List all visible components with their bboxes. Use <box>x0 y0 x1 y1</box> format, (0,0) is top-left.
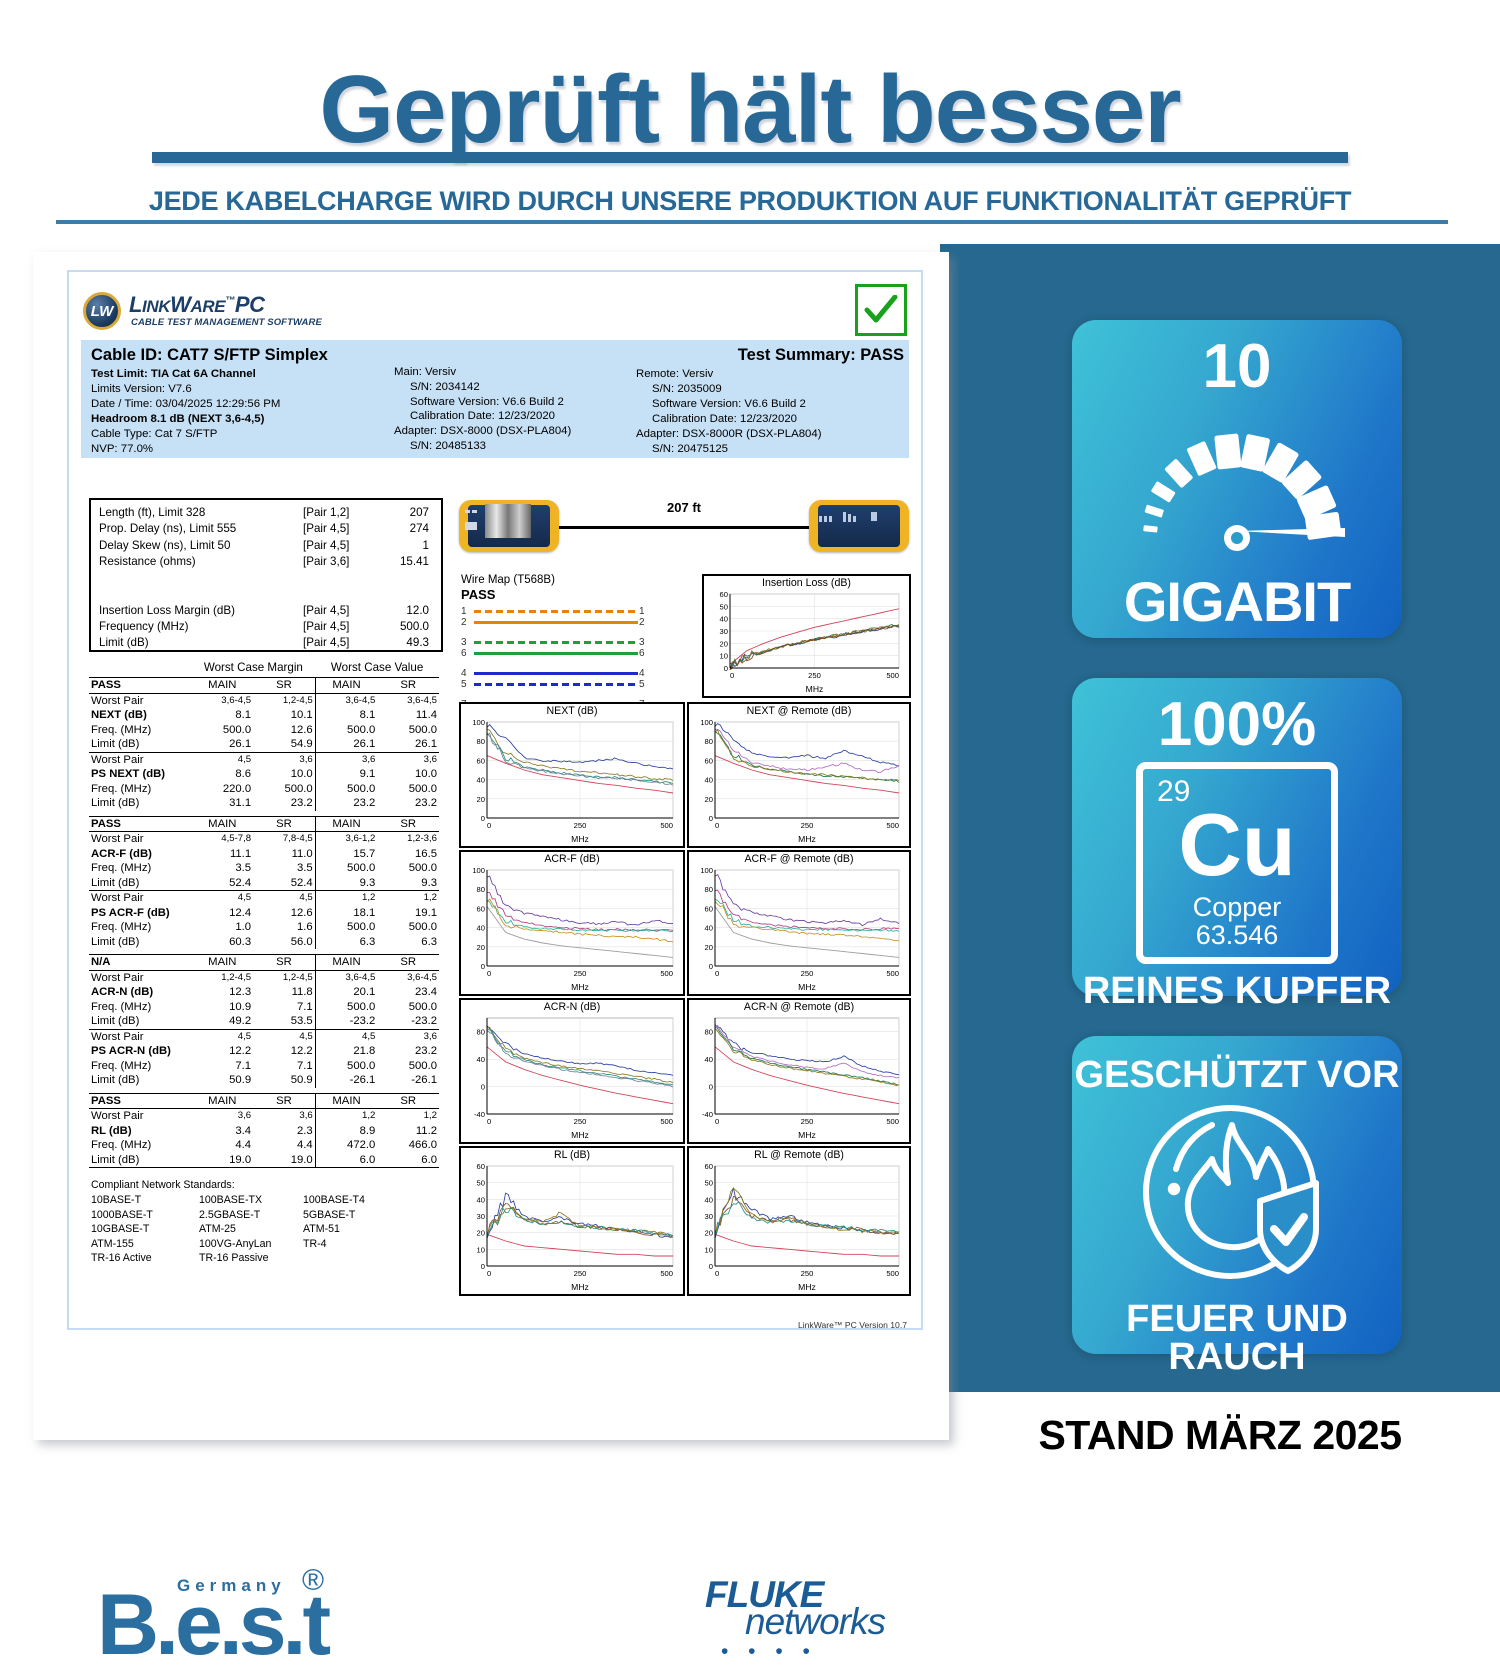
charts-grid: Insertion Loss (dB)01020304050600250500M… <box>459 574 911 1324</box>
best-country-text: Germany <box>177 1576 286 1596</box>
svg-text:MHz: MHz <box>798 1130 816 1140</box>
measurement-pair: [Pair 4,5] <box>303 636 349 649</box>
svg-text:50: 50 <box>477 1178 485 1187</box>
measurement-pair: [Pair 4,5] <box>303 620 349 633</box>
cable-line <box>559 526 809 529</box>
table-row: ACR-N (dB)12.311.820.123.4 <box>89 985 439 1000</box>
svg-text:MHz: MHz <box>798 1282 816 1292</box>
table-row: Worst Pair4,53,63,63,6 <box>89 752 439 767</box>
chart-title: NEXT @ Remote (dB) <box>689 704 909 718</box>
linkware-version-note: LinkWare™ PC Version 10.7 <box>798 1320 907 1330</box>
svg-text:250: 250 <box>801 1269 814 1278</box>
measurement-pair: [Pair 4,5] <box>303 522 349 535</box>
badge-copper: 100% 29 Cu Copper 63.546 REINES KUPFER <box>1072 678 1402 996</box>
main-title: Main: Versiv <box>394 365 638 380</box>
date-stamp: STAND MÄRZ 2025 <box>940 1412 1500 1459</box>
report-header-band: Cable ID: CAT7 S/FTP Simplex Test Limit:… <box>81 340 909 458</box>
svg-text:40: 40 <box>705 1055 713 1064</box>
cable-tester-main-icon <box>459 500 559 552</box>
table-row: Worst Pair4,54,51,21,2 <box>89 891 439 906</box>
svg-text:50: 50 <box>705 1178 713 1187</box>
cable-type: Cable Type: Cat 7 S/FTP <box>91 427 391 442</box>
badge-copper-label: REINES KUPFER <box>1072 972 1402 1010</box>
header-remote-column: Test Summary: PASS Remote: Versiv S/N: 2… <box>636 345 904 456</box>
linkware-logo: LW LINKWARE™PC CABLE TEST MANAGEMENT SOF… <box>83 288 383 334</box>
svg-text:10: 10 <box>705 1245 713 1254</box>
main-software-version: Software Version: V6.6 Build 2 <box>394 395 638 410</box>
svg-text:MHz: MHz <box>571 1130 589 1140</box>
measurement-row: Delay Skew (ns), Limit 50 [Pair 4,5] 1 <box>91 539 441 555</box>
section-header-row: PASSMAINSRMAINSR <box>89 1093 439 1109</box>
standard-row: TR-16 ActiveTR-16 Passive <box>91 1251 471 1266</box>
svg-text:MHz: MHz <box>571 834 589 844</box>
svg-text:250: 250 <box>574 969 587 978</box>
chart-title: ACR-N (dB) <box>461 1000 683 1014</box>
svg-text:0: 0 <box>709 1082 713 1091</box>
badge-fire-top-label: GESCHÜTZT VOR <box>1072 1036 1402 1094</box>
measurement-label: Insertion Loss Margin (dB) <box>99 604 235 617</box>
svg-text:80: 80 <box>477 885 485 894</box>
headline-section: Geprüft hält besser JEDE KABELCHARGE WIR… <box>0 0 1500 232</box>
chart-plot: 0204060801000250500MHz <box>461 866 683 992</box>
standard-row: ATM-155100VG-AnyLanTR-4 <box>91 1237 471 1252</box>
measurement-label: Resistance (ohms) <box>99 555 196 568</box>
standard-row: 1000BASE-T2.5GBASE-T5GBASE-T <box>91 1208 471 1223</box>
table-row: Freq. (MHz)500.012.6500.0500.0 <box>89 723 439 738</box>
cable-tester-remote-icon <box>809 500 909 552</box>
svg-text:20: 20 <box>477 1228 485 1237</box>
remote-calibration-date: Calibration Date: 12/23/2020 <box>636 412 904 427</box>
svg-text:30: 30 <box>720 627 728 636</box>
measurement-row: Frequency (MHz) [Pair 4,5] 500.0 <box>91 620 441 636</box>
table-row: Worst Pair3,63,61,21,2 <box>89 1109 439 1124</box>
test-summary: Test Summary: PASS <box>636 345 904 366</box>
chart-plot: 01020304050600250500MHz <box>689 1162 909 1292</box>
svg-text:500: 500 <box>886 1269 899 1278</box>
remote-adapter: Adapter: DSX-8000R (DSX-PLA804) <box>636 427 904 442</box>
standard-row: 10BASE-T100BASE-TX100BASE-T4 <box>91 1193 471 1208</box>
badge-gigabit-number: 10 <box>1072 320 1402 398</box>
best-germany-logo: B.e.s.t Germany ® <box>97 1564 357 1674</box>
table-row: Freq. (MHz)7.17.1500.0500.0 <box>89 1059 439 1074</box>
header-main-column: Main: Versiv S/N: 2034142 Software Versi… <box>394 345 638 454</box>
measurement-value: 207 <box>363 506 429 519</box>
chart-title: RL (dB) <box>461 1148 683 1162</box>
svg-text:30: 30 <box>477 1212 485 1221</box>
table-row: NEXT (dB)8.110.18.111.4 <box>89 708 439 723</box>
green-check-icon <box>855 284 907 336</box>
cable-id: Cable ID: CAT7 S/FTP Simplex <box>91 345 391 366</box>
badge-copper-percent: 100% <box>1072 678 1402 756</box>
section-header-row: PASSMAINSRMAINSR <box>89 678 439 694</box>
chart-rl-remote-db: RL @ Remote (dB)01020304050600250500MHz <box>687 1146 911 1296</box>
svg-text:40: 40 <box>477 1195 485 1204</box>
subtitle-underline <box>56 220 1448 224</box>
measurement-label: Frequency (MHz) <box>99 620 189 633</box>
speedometer-gauge-icon <box>1072 398 1402 574</box>
chart-title: ACR-F (dB) <box>461 852 683 866</box>
svg-text:0: 0 <box>481 1262 485 1271</box>
svg-text:40: 40 <box>705 775 713 784</box>
table-row: PS NEXT (dB)8.610.09.110.0 <box>89 767 439 782</box>
svg-text:250: 250 <box>801 1117 814 1126</box>
main-sn: S/N: 2034142 <box>394 380 638 395</box>
svg-text:60: 60 <box>477 904 485 913</box>
svg-text:60: 60 <box>705 904 713 913</box>
svg-text:60: 60 <box>477 1162 485 1171</box>
element-symbol: Cu <box>1143 801 1331 889</box>
svg-text:40: 40 <box>477 775 485 784</box>
svg-text:60: 60 <box>477 756 485 765</box>
svg-text:250: 250 <box>574 821 587 830</box>
fluke-networks-logo: FLUKE networks • • • • <box>705 1574 925 1664</box>
remote-sn: S/N: 2035009 <box>636 382 904 397</box>
svg-text:250: 250 <box>801 821 814 830</box>
measurement-label: Limit (dB) <box>99 636 149 649</box>
svg-text:500: 500 <box>886 969 899 978</box>
table-row: Limit (dB)26.154.926.126.1 <box>89 737 439 752</box>
compliant-standards: Compliant Network Standards: 10BASE-T100… <box>91 1178 471 1266</box>
fluke-dots-icon: • • • • <box>721 1640 817 1664</box>
svg-text:80: 80 <box>705 1027 713 1036</box>
svg-text:60: 60 <box>705 756 713 765</box>
chart-plot: 0204060801000250500MHz <box>461 718 683 844</box>
svg-text:40: 40 <box>477 1055 485 1064</box>
svg-text:0: 0 <box>715 969 719 978</box>
measurement-value: 274 <box>363 522 429 535</box>
badge-fire-bottom-label: FEUER UND RAUCH <box>1072 1300 1402 1376</box>
svg-text:10: 10 <box>477 1245 485 1254</box>
chart-acr-n-db: ACR-N (dB)-40040800250500MHz <box>459 998 685 1144</box>
table-row: Limit (dB)50.950.9-26.1-26.1 <box>89 1073 439 1088</box>
chart-insertion-loss-db: Insertion Loss (dB)01020304050600250500M… <box>702 574 911 698</box>
chart-acr-n-remote-db: ACR-N @ Remote (dB)-40040800250500MHz <box>687 998 911 1144</box>
table-row: Worst Pair3,6-4,51,2-4,53,6-4,53,6-4,5 <box>89 693 439 708</box>
svg-text:0: 0 <box>481 1082 485 1091</box>
registered-trademark-icon: ® <box>302 1564 324 1598</box>
svg-text:20: 20 <box>720 639 728 648</box>
svg-text:20: 20 <box>705 794 713 803</box>
measurement-row: Length (ft), Limit 328 [Pair 1,2] 207 <box>91 506 441 522</box>
table-row: Freq. (MHz)3.53.5500.0500.0 <box>89 861 439 876</box>
svg-text:60: 60 <box>720 590 728 599</box>
svg-text:250: 250 <box>574 1117 587 1126</box>
results-table: Worst Case MarginWorst Case ValuePASSMAI… <box>89 660 439 1168</box>
chart-acr-f-remote-db: ACR-F @ Remote (dB)0204060801000250500MH… <box>687 850 911 996</box>
badge-gigabit-label: GIGABIT <box>1072 574 1402 630</box>
remote-title: Remote: Versiv <box>636 367 904 382</box>
table-row: Freq. (MHz)1.01.6500.0500.0 <box>89 920 439 935</box>
measurement-value: 500.0 <box>363 620 429 633</box>
svg-text:0: 0 <box>487 821 491 830</box>
table-row: Freq. (MHz)10.97.1500.0500.0 <box>89 1000 439 1015</box>
measurement-label: Delay Skew (ns), Limit 50 <box>99 539 230 552</box>
nvp: NVP: 77.0% <box>91 442 391 457</box>
section-header-row: PASSMAINSRMAINSR <box>89 816 439 832</box>
svg-text:250: 250 <box>574 1269 587 1278</box>
table-row: Worst Pair1,2-4,51,2-4,53,6-4,53,6-4,5 <box>89 970 439 985</box>
measurement-row: Prop. Delay (ns), Limit 555 [Pair 4,5] 2… <box>91 522 441 538</box>
table-row: Limit (dB)31.123.223.223.2 <box>89 796 439 811</box>
page-subtitle: JEDE KABELCHARGE WIRD DURCH UNSERE PRODU… <box>0 186 1500 217</box>
measurement-pair: [Pair 1,2] <box>303 506 349 519</box>
svg-text:0: 0 <box>715 1117 719 1126</box>
svg-text:30: 30 <box>705 1212 713 1221</box>
test-limit: Test Limit: TIA Cat 6A Channel <box>91 367 391 382</box>
lw-mark-icon: LW <box>83 292 121 330</box>
table-row: Worst Pair4,5-7,87,8-4,53,6-1,21,2-3,6 <box>89 832 439 847</box>
svg-text:500: 500 <box>886 1117 899 1126</box>
main-calibration-date: Calibration Date: 12/23/2020 <box>394 409 638 424</box>
svg-text:80: 80 <box>705 885 713 894</box>
chart-acr-f-db: ACR-F (dB)0204060801000250500MHz <box>459 850 685 996</box>
svg-text:250: 250 <box>801 969 814 978</box>
table-row: Limit (dB)60.356.06.36.3 <box>89 935 439 950</box>
chart-plot: -40040800250500MHz <box>461 1014 683 1140</box>
table-row: Limit (dB)49.253.5-23.2-23.2 <box>89 1014 439 1029</box>
chart-plot: 0204060801000250500MHz <box>689 718 909 844</box>
badge-gigabit: 10 <box>1072 320 1402 638</box>
badge-fire: GESCHÜTZT VOR FEUER UND RAUCH <box>1072 1036 1402 1354</box>
chart-title: Insertion Loss (dB) <box>704 576 909 590</box>
svg-text:500: 500 <box>660 1117 673 1126</box>
cable-link-diagram: 207 ft <box>459 500 909 560</box>
standard-row: 10GBASE-TATM-25ATM-51 <box>91 1222 471 1237</box>
report-body: LW LINKWARE™PC CABLE TEST MANAGEMENT SOF… <box>67 270 923 1330</box>
svg-text:40: 40 <box>705 1195 713 1204</box>
main-adapter-sn: S/N: 20485133 <box>394 439 638 454</box>
standards-title: Compliant Network Standards: <box>91 1178 471 1192</box>
svg-text:100: 100 <box>700 718 713 727</box>
networks-wordmark: networks <box>745 1601 885 1643</box>
svg-text:100: 100 <box>700 866 713 875</box>
svg-text:100: 100 <box>472 866 485 875</box>
svg-text:100: 100 <box>472 718 485 727</box>
svg-text:MHz: MHz <box>798 834 816 844</box>
measurement-summary-box: Length (ft), Limit 328 [Pair 1,2] 207 Pr… <box>89 498 443 652</box>
svg-text:20: 20 <box>477 942 485 951</box>
table-row: Freq. (MHz)220.0500.0500.0500.0 <box>89 782 439 797</box>
chart-next-remote-db: NEXT @ Remote (dB)0204060801000250500MHz <box>687 702 911 848</box>
measurement-pair: [Pair 3,6] <box>303 555 349 568</box>
test-report-page: LW LINKWARE™PC CABLE TEST MANAGEMENT SOF… <box>33 252 949 1440</box>
table-row: RL (dB)3.42.38.911.2 <box>89 1124 439 1139</box>
svg-text:0: 0 <box>709 962 713 971</box>
svg-text:0: 0 <box>487 1117 491 1126</box>
table-row: Freq. (MHz)4.44.4472.0466.0 <box>89 1138 439 1153</box>
svg-text:80: 80 <box>477 1027 485 1036</box>
measurement-row: Resistance (ohms) [Pair 3,6] 15.41 <box>91 555 441 571</box>
linkware-wordmark: LINKWARE™PC <box>129 292 265 318</box>
chart-title: ACR-F @ Remote (dB) <box>689 852 909 866</box>
svg-text:MHz: MHz <box>571 1282 589 1292</box>
chart-title: NEXT (dB) <box>461 704 683 718</box>
svg-text:60: 60 <box>705 1162 713 1171</box>
table-row: Worst Pair4,54,54,53,6 <box>89 1029 439 1044</box>
measurement-pair: [Pair 4,5] <box>303 539 349 552</box>
table-row: Limit (dB)52.452.49.39.3 <box>89 876 439 891</box>
date-time: Date / Time: 03/04/2025 12:29:56 PM <box>91 397 391 412</box>
section-header-row: N/AMAINSRMAINSR <box>89 955 439 971</box>
table-row: PS ACR-N (dB)12.212.221.823.2 <box>89 1044 439 1059</box>
svg-text:250: 250 <box>808 671 821 680</box>
svg-text:10: 10 <box>720 651 728 660</box>
svg-text:0: 0 <box>724 664 728 673</box>
chart-plot: -40040800250500MHz <box>689 1014 909 1140</box>
linkware-tagline: CABLE TEST MANAGEMENT SOFTWARE <box>131 317 322 328</box>
measurement-label: Length (ft), Limit 328 <box>99 506 205 519</box>
svg-text:40: 40 <box>477 923 485 932</box>
periodic-element-icon: 29 Cu Copper 63.546 <box>1136 762 1338 964</box>
remote-adapter-sn: S/N: 20475125 <box>636 442 904 457</box>
table-row: ACR-F (dB)11.111.015.716.5 <box>89 847 439 862</box>
svg-text:20: 20 <box>705 1228 713 1237</box>
chart-rl-db: RL (dB)01020304050600250500MHz <box>459 1146 685 1296</box>
measurement-value: 49.3 <box>363 636 429 649</box>
svg-text:0: 0 <box>709 1262 713 1271</box>
svg-text:0: 0 <box>715 821 719 830</box>
measurement-row: Insertion Loss Margin (dB) [Pair 4,5] 12… <box>91 604 441 620</box>
svg-text:500: 500 <box>886 821 899 830</box>
element-name: Copper <box>1143 893 1331 923</box>
element-mass: 63.546 <box>1143 921 1331 951</box>
table-row: Limit (dB)19.019.06.06.0 <box>89 1153 439 1168</box>
svg-text:MHz: MHz <box>571 982 589 992</box>
svg-text:0: 0 <box>481 962 485 971</box>
svg-text:500: 500 <box>886 671 899 680</box>
svg-text:20: 20 <box>705 942 713 951</box>
svg-text:0: 0 <box>730 671 734 680</box>
chart-next-db: NEXT (dB)0204060801000250500MHz <box>459 702 685 848</box>
svg-text:MHz: MHz <box>806 684 824 694</box>
headroom: Headroom 8.1 dB (NEXT 3,6-4,5) <box>91 412 391 427</box>
chart-title: ACR-N @ Remote (dB) <box>689 1000 909 1014</box>
svg-text:500: 500 <box>660 969 673 978</box>
measurement-label: Prop. Delay (ns), Limit 555 <box>99 522 236 535</box>
chart-plot: 0204060801000250500MHz <box>689 866 909 992</box>
chart-plot: 01020304050600250500MHz <box>461 1162 683 1292</box>
svg-text:0: 0 <box>487 1269 491 1278</box>
svg-text:50: 50 <box>720 602 728 611</box>
svg-text:40: 40 <box>705 923 713 932</box>
svg-text:-40: -40 <box>474 1110 485 1119</box>
svg-text:500: 500 <box>660 821 673 830</box>
svg-text:0: 0 <box>709 814 713 823</box>
svg-text:0: 0 <box>481 814 485 823</box>
chart-title: RL @ Remote (dB) <box>689 1148 909 1162</box>
svg-text:0: 0 <box>487 969 491 978</box>
page-title: Geprüft hält besser <box>0 62 1500 158</box>
measurement-pair: [Pair 4,5] <box>303 604 349 617</box>
svg-text:40: 40 <box>720 614 728 623</box>
remote-software-version: Software Version: V6.6 Build 2 <box>636 397 904 412</box>
limits-version: Limits Version: V7.6 <box>91 382 391 397</box>
svg-text:80: 80 <box>477 737 485 746</box>
svg-text:20: 20 <box>477 794 485 803</box>
measurement-value: 1 <box>363 539 429 552</box>
svg-text:MHz: MHz <box>798 982 816 992</box>
flame-shield-icon <box>1072 1094 1402 1300</box>
headline-underline <box>152 152 1348 163</box>
measurement-row: Limit (dB) [Pair 4,5] 49.3 <box>91 636 441 652</box>
svg-text:80: 80 <box>705 737 713 746</box>
measurement-value: 12.0 <box>363 604 429 617</box>
cable-length-label: 207 ft <box>559 500 809 515</box>
table-row: PS ACR-F (dB)12.412.618.119.1 <box>89 906 439 921</box>
header-left-column: Cable ID: CAT7 S/FTP Simplex Test Limit:… <box>91 345 391 456</box>
main-adapter: Adapter: DSX-8000 (DSX-PLA804) <box>394 424 638 439</box>
measurement-value: 15.41 <box>363 555 429 568</box>
chart-plot: 01020304050600250500MHz <box>704 590 909 694</box>
svg-text:0: 0 <box>715 1269 719 1278</box>
svg-text:-40: -40 <box>702 1110 713 1119</box>
svg-text:500: 500 <box>660 1269 673 1278</box>
